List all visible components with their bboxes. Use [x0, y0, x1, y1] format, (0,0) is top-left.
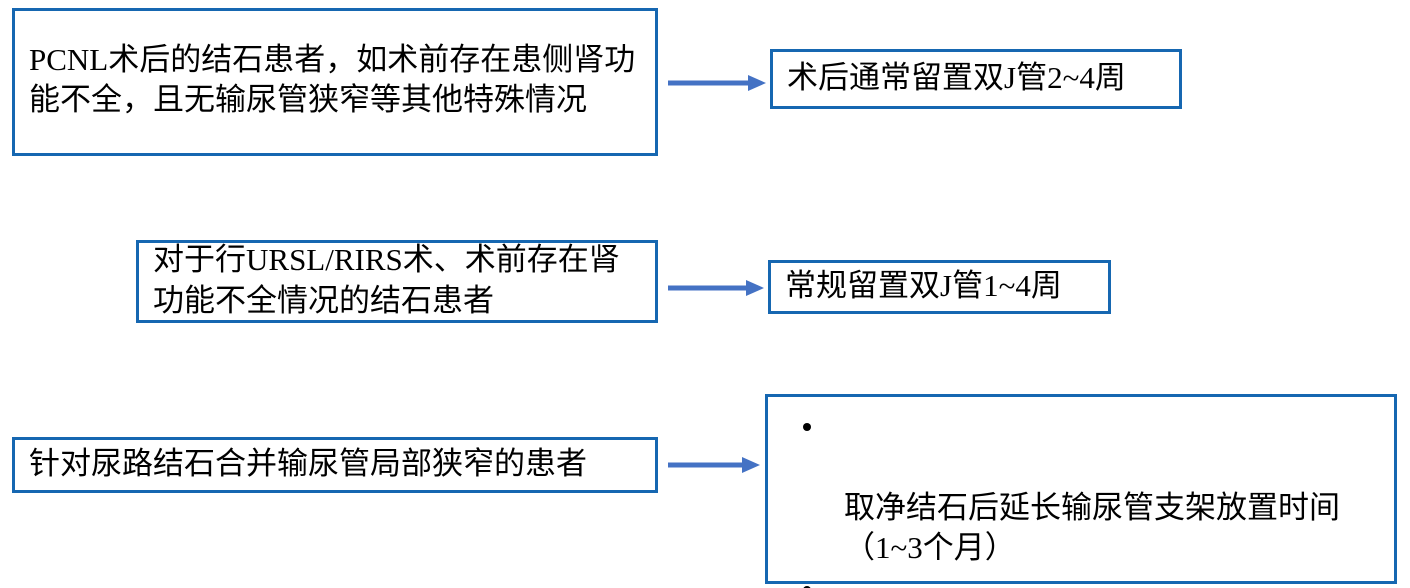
bullet-dot-icon — [803, 423, 811, 431]
node-pcnl-condition[interactable]: PCNL术后的结石患者，如术前存在患侧肾功能不全，且无输尿管狭窄等其他特殊情况 — [12, 8, 658, 156]
list-item: 还可考虑球囊扩张术、开放/腔镜下狭窄段切除+连续性重建术等其他方式。 — [782, 570, 1384, 588]
node-pcnl-stent-duration[interactable]: 术后通常留置双J管2~4周 — [770, 49, 1182, 109]
list-item: 取净结石后延长输尿管支架放置时间（1~3个月） — [782, 407, 1384, 568]
diagram-canvas: PCNL术后的结石患者，如术前存在患侧肾功能不全，且无输尿管狭窄等其他特殊情况 … — [0, 0, 1410, 588]
node-pcnl-condition-text: PCNL术后的结石患者，如术前存在患侧肾功能不全，且无输尿管狭窄等其他特殊情况 — [29, 40, 643, 121]
list-item-text: 取净结石后延长输尿管支架放置时间（1~3个月） — [844, 490, 1340, 565]
node-ursl-rirs-condition-text: 对于行URSL/RIRS术、术前存在肾功能不全情况的结石患者 — [153, 240, 643, 321]
node-stricture-condition-text: 针对尿路结石合并输尿管局部狭窄的患者 — [29, 444, 643, 484]
node-ursl-rirs-condition[interactable]: 对于行URSL/RIRS术、术前存在肾功能不全情况的结石患者 — [136, 240, 658, 323]
node-pcnl-stent-duration-text: 术后通常留置双J管2~4周 — [787, 58, 1167, 98]
arrow-ursl-to-stent — [668, 276, 764, 300]
node-ursl-stent-duration[interactable]: 常规留置双J管1~4周 — [768, 260, 1111, 314]
arrow-stricture-to-management — [668, 453, 760, 477]
node-stricture-condition[interactable]: 针对尿路结石合并输尿管局部狭窄的患者 — [12, 437, 658, 493]
stricture-management-list: 取净结石后延长输尿管支架放置时间（1~3个月） 还可考虑球囊扩张术、开放/腔镜下… — [782, 407, 1384, 588]
node-ursl-stent-duration-text: 常规留置双J管1~4周 — [785, 266, 1096, 306]
arrow-pcnl-to-stent — [668, 71, 766, 95]
node-stricture-management[interactable]: 取净结石后延长输尿管支架放置时间（1~3个月） 还可考虑球囊扩张术、开放/腔镜下… — [765, 394, 1397, 584]
